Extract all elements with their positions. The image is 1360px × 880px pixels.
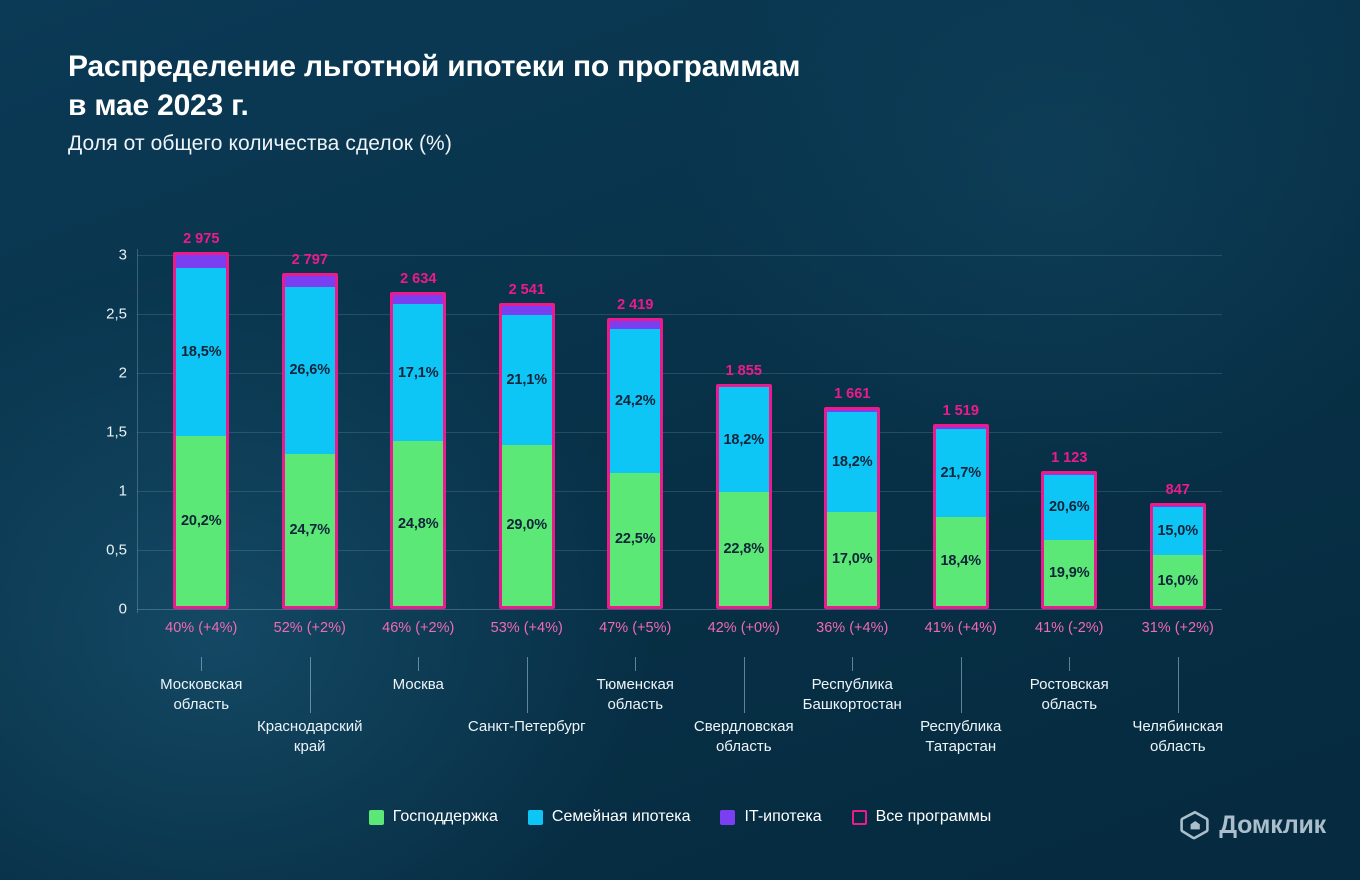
legend-item-label: IT-ипотека — [744, 808, 821, 826]
bar-segment[interactable]: 1,4% — [176, 255, 226, 268]
legend-swatch-gov — [369, 810, 384, 825]
bar-outline-all-programs[interactable]: 0,7%20,6%19,9% — [1041, 471, 1097, 610]
bar-group[interactable]: 2,4%21,1%29,0%2 541 — [499, 255, 555, 609]
bar-segment[interactable]: 17,0% — [827, 512, 877, 606]
bar-segment-label: 17,1% — [393, 365, 443, 381]
bar-segment[interactable]: 20,6% — [1044, 475, 1094, 540]
y-axis-ticks: 00,511,522,53 — [85, 255, 127, 609]
x-axis-region-label: Ростовская область — [989, 675, 1149, 715]
y-axis-tick-label: 1,5 — [106, 424, 127, 441]
bar-segment[interactable]: 19,9% — [1044, 540, 1094, 606]
bar-group[interactable]: 0,7%20,6%19,9%1 123 — [1041, 255, 1097, 609]
page-subtitle: Доля от общего количества сделок (%) — [68, 132, 1168, 156]
bar-segment[interactable]: 18,2% — [719, 387, 769, 492]
bar-group[interactable]: 1,1%21,7%18,4%1 519 — [933, 255, 989, 609]
x-axis-region-label: Москва — [338, 675, 498, 695]
bar-total-label: 2 541 — [477, 282, 577, 298]
bar-segment-label: 24,2% — [610, 393, 660, 409]
bar-outline-all-programs[interactable]: 1,1%21,7%18,4% — [933, 424, 989, 609]
bar-segment[interactable]: 0,6% — [610, 321, 660, 330]
bar-segment[interactable]: 3,7% — [393, 295, 443, 304]
bar-segment[interactable]: 18,4% — [936, 517, 986, 606]
x-axis-region-label: Московская область — [121, 675, 281, 715]
x-axis-tick-stem — [201, 657, 202, 671]
y-axis-title: Количество сделок по льготным программам — [0, 45, 4, 399]
bar-group[interactable]: 1,2%18,2%22,8%1 855 — [716, 255, 772, 609]
x-axis-region-label: Тюменская область — [555, 675, 715, 715]
bar-segment-label: 21,7% — [936, 465, 986, 481]
bar-segment[interactable]: 18,2% — [827, 412, 877, 512]
y-axis-tick-label: 0 — [119, 601, 127, 618]
bar-outline-all-programs[interactable]: 0,7%18,2%17,0% — [824, 407, 880, 609]
x-axis-region-label: Краснодарский край — [230, 717, 390, 757]
bar-total-label: 847 — [1128, 482, 1228, 498]
bar-segment[interactable]: 15,0% — [1153, 507, 1203, 555]
x-axis-region-label: Санкт-Петербург — [447, 717, 607, 737]
bar-segment-label: 26,6% — [285, 362, 335, 378]
y-axis-tick-label: 2 — [119, 365, 127, 382]
x-axis-tick-stem — [418, 657, 419, 671]
bar-segment[interactable]: 22,8% — [719, 492, 769, 606]
x-axis-tick-stem — [635, 657, 636, 671]
bar-total-label: 1 855 — [694, 363, 794, 379]
legend-item[interactable]: Господдержка — [369, 808, 498, 826]
x-axis-region-label: Республика Татарстан — [881, 717, 1041, 757]
bar-outline-all-programs[interactable]: 1,4%18,5%20,2% — [173, 252, 229, 609]
bar-segment[interactable]: 26,6% — [285, 287, 335, 455]
bar-group[interactable]: 0,4%15,0%16,0%847 — [1150, 255, 1206, 609]
bar-outline-all-programs[interactable]: 1,2%18,2%22,8% — [716, 384, 772, 609]
logo-text: Домклик — [1219, 811, 1326, 840]
bar-segment-label: 29,0% — [502, 517, 552, 533]
bar-total-label: 1 519 — [911, 403, 1011, 419]
y-axis-tick-label: 3 — [119, 247, 127, 264]
bar-segment-label: 15,0% — [1153, 523, 1203, 539]
bar-segment[interactable]: 24,7% — [285, 454, 335, 606]
bar-segment-label: 20,6% — [1044, 499, 1094, 515]
bar-segment-label: 18,5% — [176, 344, 226, 360]
bar-segment[interactable]: 24,8% — [393, 441, 443, 606]
legend-item[interactable]: IT-ипотека — [720, 808, 821, 826]
y-axis-tick-label: 1 — [119, 483, 127, 500]
x-axis-tick-stem — [1069, 657, 1070, 671]
x-axis-share-label: 31% (+2%) — [1108, 620, 1248, 636]
bar-total-label: 2 797 — [260, 252, 360, 268]
bar-outline-all-programs[interactable]: 0,7%26,6%24,7% — [282, 273, 338, 609]
x-axis-tick-stem — [310, 657, 311, 713]
legend-swatch-all — [852, 810, 867, 825]
legend-swatch-family — [528, 810, 543, 825]
bar-segment-label: 21,1% — [502, 372, 552, 388]
plot-area: 1,4%18,5%20,2%2 9750,7%26,6%24,7%2 7973,… — [137, 255, 1222, 609]
x-axis-region-label: Свердловская область — [664, 717, 824, 757]
bar-outline-all-programs[interactable]: 3,7%17,1%24,8% — [390, 292, 446, 609]
bar-group[interactable]: 1,4%18,5%20,2%2 975 — [173, 255, 229, 609]
bar-total-label: 1 661 — [802, 386, 902, 402]
x-axis-tick-stem — [744, 657, 745, 713]
page-title: Распределение льготной ипотеки по програ… — [68, 48, 1168, 125]
bar-segment[interactable]: 16,0% — [1153, 555, 1203, 606]
chart-header: Распределение льготной ипотеки по програ… — [68, 48, 1168, 156]
bar-segment[interactable]: 17,1% — [393, 304, 443, 441]
legend-item[interactable]: Все программы — [852, 808, 992, 826]
gridline — [137, 609, 1222, 610]
bar-total-label: 1 123 — [1019, 450, 1119, 466]
bar-outline-all-programs[interactable]: 0,6%24,2%22,5% — [607, 318, 663, 609]
bar-segment[interactable]: 18,5% — [176, 268, 226, 436]
bar-segment-label: 16,0% — [1153, 573, 1203, 589]
domclick-house-icon — [1180, 810, 1210, 840]
legend-swatch-it — [720, 810, 735, 825]
chart-legend: ГосподдержкаСемейная ипотекаIT-ипотекаВс… — [0, 808, 1360, 826]
bar-segment-label: 24,8% — [393, 516, 443, 532]
bar-segment[interactable]: 22,5% — [610, 473, 660, 606]
bar-segment[interactable]: 24,2% — [610, 329, 660, 472]
legend-item[interactable]: Семейная ипотека — [528, 808, 691, 826]
x-axis-tick-stem — [527, 657, 528, 713]
bar-segment-label: 22,8% — [719, 541, 769, 557]
bar-segment-label: 24,7% — [285, 522, 335, 538]
bar-group[interactable]: 0,7%26,6%24,7%2 797 — [282, 255, 338, 609]
y-axis-tick-label: 0,5 — [106, 542, 127, 559]
x-axis-tick-stem — [852, 657, 853, 671]
bar-group[interactable]: 3,7%17,1%24,8%2 634 — [390, 255, 446, 609]
x-axis-region-label: Челябинская область — [1098, 717, 1258, 757]
bar-group[interactable]: 0,7%18,2%17,0%1 661 — [824, 255, 880, 609]
bar-segment-label: 22,5% — [610, 531, 660, 547]
bar-segment[interactable]: 21,7% — [936, 429, 986, 517]
bar-segment-label: 19,9% — [1044, 565, 1094, 581]
bar-group[interactable]: 0,6%24,2%22,5%2 419 — [607, 255, 663, 609]
bar-segment-label: 20,2% — [176, 513, 226, 529]
bar-outline-all-programs[interactable]: 0,4%15,0%16,0% — [1150, 503, 1206, 609]
bar-total-label: 2 975 — [151, 231, 251, 247]
x-axis-region-label: Республика Башкортостан — [772, 675, 932, 715]
bar-segment[interactable]: 21,1% — [502, 315, 552, 445]
y-axis-line — [137, 249, 138, 613]
bar-segment-label: 18,4% — [936, 553, 986, 569]
bar-segment-label: 18,2% — [719, 432, 769, 448]
x-axis-tick-stem — [961, 657, 962, 713]
domclik-logo: Домклик — [1180, 810, 1326, 840]
bar-segment-label: 17,0% — [827, 551, 877, 567]
bar-segment[interactable]: 20,2% — [176, 436, 226, 607]
bar-total-label: 2 419 — [585, 297, 685, 313]
bar-outline-all-programs[interactable]: 2,4%21,1%29,0% — [499, 303, 555, 609]
bar-segment[interactable]: 29,0% — [502, 445, 552, 606]
x-axis-tick-stem — [1178, 657, 1179, 713]
bar-segment-label: 18,2% — [827, 454, 877, 470]
bar-total-label: 2 634 — [368, 271, 468, 287]
bar-segment[interactable]: 0,7% — [285, 276, 335, 287]
y-axis-tick-label: 2,5 — [106, 306, 127, 323]
bar-segment[interactable]: 2,4% — [502, 306, 552, 315]
legend-item-label: Господдержка — [393, 808, 498, 826]
legend-item-label: Семейная ипотека — [552, 808, 691, 826]
legend-item-label: Все программы — [876, 808, 992, 826]
